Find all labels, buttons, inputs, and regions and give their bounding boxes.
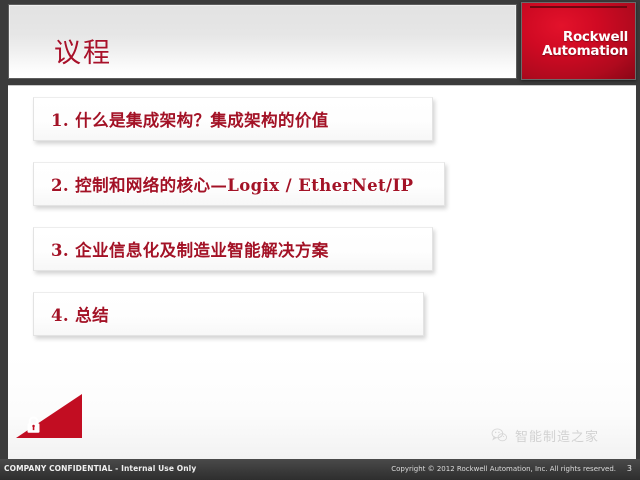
page-number: 3 (627, 464, 632, 473)
rockwell-automation-logo: Rockwell Automation (521, 2, 636, 80)
agenda-item-label: 3. 企业信息化及制造业智能解决方案 (34, 237, 329, 261)
agenda-item[interactable]: 2. 控制和网络的核心—Logix / EtherNet/IP (33, 162, 445, 206)
agenda-item-label: 2. 控制和网络的核心—Logix / EtherNet/IP (34, 172, 413, 196)
presentation-slide: 议程 Rockwell Automation 1. 什么是集成架构？集成架构的价… (0, 0, 640, 480)
logo-line-2: Automation (542, 44, 628, 58)
agenda-item-label: 1. 什么是集成架构？集成架构的价值 (34, 107, 329, 131)
watermark-text: 智能制造之家 (515, 426, 599, 445)
slide-footer: COMPANY CONFIDENTIAL - Internal Use Only… (0, 459, 640, 480)
agenda-item[interactable]: 4. 总结 (33, 292, 424, 336)
agenda-item[interactable]: 3. 企业信息化及制造业智能解决方案 (33, 227, 433, 271)
logo-line-1: Rockwell (542, 30, 628, 44)
confidential-notice: COMPANY CONFIDENTIAL - Internal Use Only (4, 464, 196, 473)
watermark: 智能制造之家 (491, 426, 599, 445)
page-title: 议程 (54, 31, 112, 70)
title-panel: 议程 (8, 4, 517, 79)
agenda-item-label: 4. 总结 (34, 302, 109, 326)
slide-body: 1. 什么是集成架构？集成架构的价值 2. 控制和网络的核心—Logix / E… (8, 85, 636, 459)
slide-header: 议程 Rockwell Automation (0, 0, 640, 82)
copyright-notice: Copyright © 2012 Rockwell Automation, In… (391, 465, 616, 473)
confidential-corner-badge (16, 394, 82, 438)
lock-icon (26, 415, 41, 434)
agenda-item[interactable]: 1. 什么是集成架构？集成架构的价值 (33, 97, 433, 141)
logo-text: Rockwell Automation (542, 30, 628, 58)
wechat-icon (491, 427, 508, 444)
